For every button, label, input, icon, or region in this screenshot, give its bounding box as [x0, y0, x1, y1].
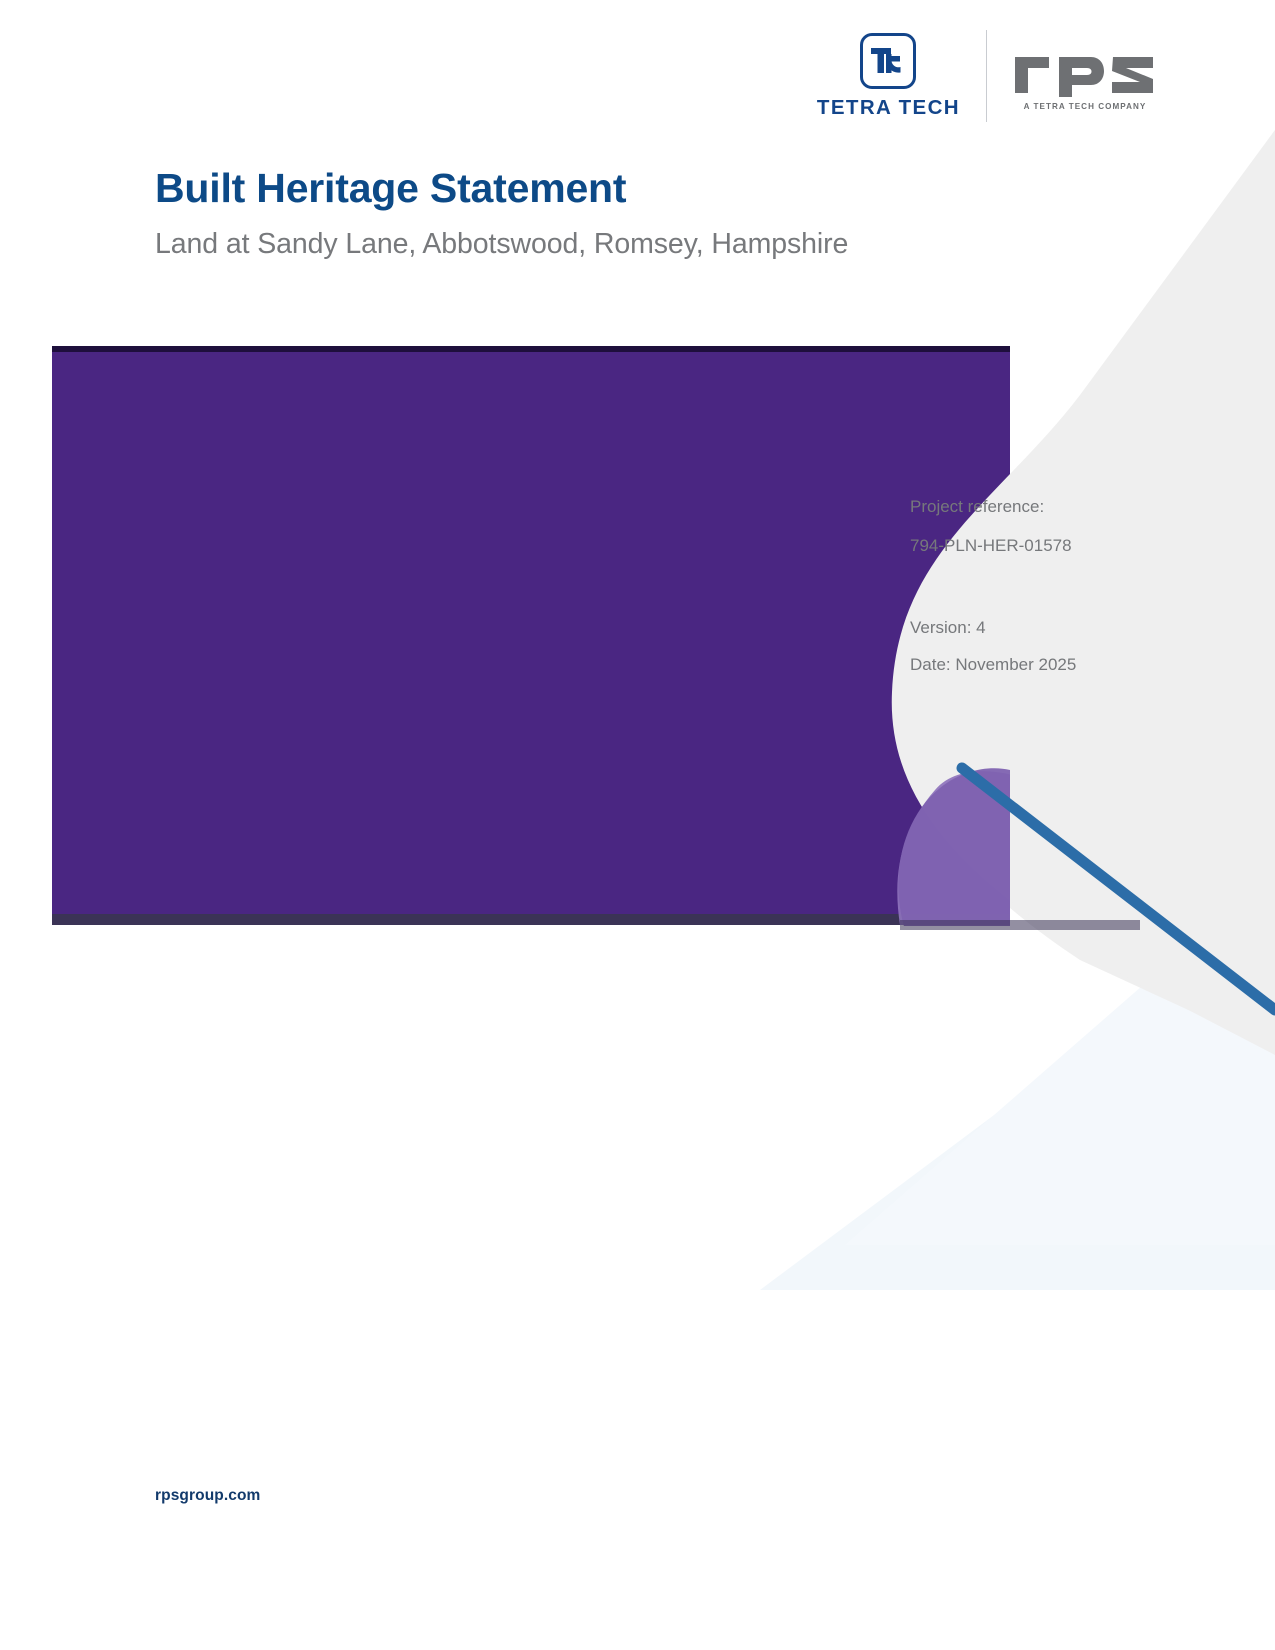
purple-band-top-edge [52, 346, 1010, 356]
purple-band-bottom-edge [52, 914, 1010, 925]
tetra-tech-logo: TETRA TECH [817, 33, 986, 119]
brand-logo-bar: TETRA TECH A TETRA TECH COMPANY [817, 28, 1157, 124]
tetra-tech-wordmark: TETRA TECH [817, 98, 960, 119]
tetra-tech-mark-icon [860, 33, 916, 89]
title-block: Built Heritage Statement Land at Sandy L… [155, 165, 1055, 261]
blue-diagonal-line [962, 768, 1275, 1010]
rps-tagline: A TETRA TECH COMPANY [1024, 103, 1147, 111]
pale-blue-wedge-2 [845, 870, 1275, 1245]
purple-band [52, 352, 1010, 920]
band-bottom-shadow [900, 920, 1140, 930]
project-reference-value: 794-PLN-HER-01578 [910, 537, 1210, 554]
rps-logo: A TETRA TECH COMPANY [987, 41, 1157, 111]
date-value: Date: November 2025 [910, 656, 1210, 673]
rps-wordmark-icon [1013, 41, 1157, 97]
project-reference-label: Project reference: [910, 498, 1210, 515]
rpsgroup-website-link[interactable]: rpsgroup.com [155, 1487, 260, 1504]
footer: rpsgroup.com [155, 1487, 260, 1505]
page-subtitle: Land at Sandy Lane, Abbotswood, Romsey, … [155, 227, 1055, 261]
project-details: Project reference: 794-PLN-HER-01578 Ver… [910, 498, 1210, 693]
version-value: Version: 4 [910, 619, 1210, 636]
meta-spacer [910, 576, 1210, 619]
page-title: Built Heritage Statement [155, 165, 1055, 213]
cover-page: TETRA TECH A TETRA TECH COMPANY Built He… [0, 0, 1275, 1650]
purple-highlight-shape [897, 771, 1180, 925]
pale-blue-wedge [760, 905, 1275, 1290]
purple-highlight-shape-2 [898, 768, 1185, 930]
